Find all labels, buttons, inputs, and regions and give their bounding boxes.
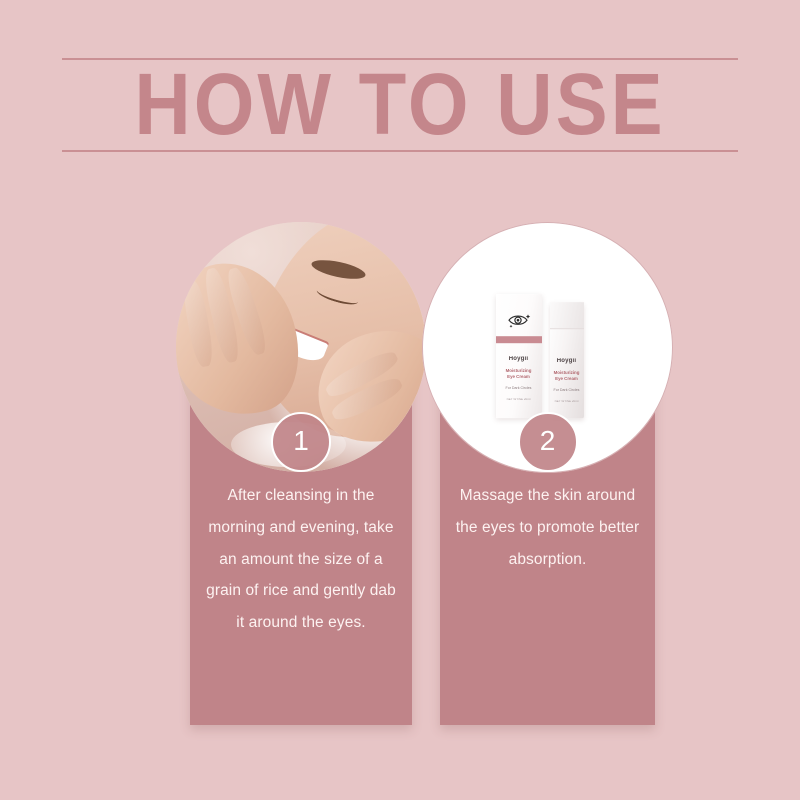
bottle-name-line2: Eye Cream bbox=[550, 376, 584, 381]
product-box: Hoygii Moisturizing Eye Cream For Dark C… bbox=[496, 294, 542, 418]
bottle-name-line1: Moisturizing bbox=[550, 370, 584, 375]
step-card-2: Hoygii Moisturizing Eye Cream For Dark C… bbox=[440, 310, 655, 725]
step-text-1: After cleansing in the morning and eveni… bbox=[200, 480, 402, 639]
step-number-badge-2: 2 bbox=[518, 412, 578, 472]
bottle-subtitle: For Dark Circles bbox=[550, 388, 584, 392]
product-name-line1: Moisturizing bbox=[496, 368, 542, 373]
bottle-volume: NET WT/NE 20ml bbox=[550, 400, 584, 403]
step-card-1: 1 After cleansing in the morning and eve… bbox=[190, 310, 412, 725]
product-bottle: Hoygii Moisturizing Eye Cream For Dark C… bbox=[550, 302, 584, 418]
bottle-cap bbox=[550, 302, 584, 329]
eye-icon bbox=[507, 312, 531, 328]
step-number-badge-1: 1 bbox=[271, 412, 331, 472]
box-accent-stripe bbox=[496, 336, 542, 343]
how-to-use-poster: HOW TO USE bbox=[0, 0, 800, 800]
product-volume: NET WT/NE 20ml bbox=[496, 398, 542, 401]
step-text-2: Massage the skin around the eyes to prom… bbox=[450, 480, 645, 575]
product-brand: Hoygii bbox=[496, 356, 542, 363]
product-shot: Hoygii Moisturizing Eye Cream For Dark C… bbox=[488, 288, 608, 418]
product-subtitle: For Dark Circles bbox=[496, 386, 542, 390]
product-name-line2: Eye Cream bbox=[496, 374, 542, 379]
steps-container: 1 After cleansing in the morning and eve… bbox=[0, 0, 800, 800]
bottle-brand: Hoygii bbox=[550, 358, 584, 365]
